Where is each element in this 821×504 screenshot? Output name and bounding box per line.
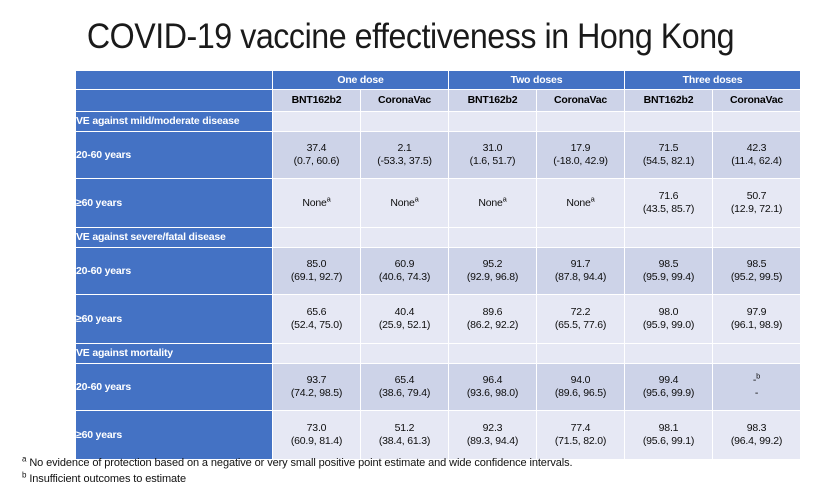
confidence-interval: (93.6, 98.0) [449,387,536,400]
confidence-interval: (74.2, 98.5) [273,387,360,400]
data-cell: 72.2(65.5, 77.6) [537,295,624,343]
data-cell: 60.9(40.6, 74.3) [361,248,448,294]
confidence-interval: (71.5, 82.0) [537,435,624,448]
data-cell: 65.4(38.6, 79.4) [361,364,448,410]
data-cell: 50.7(12.9, 72.1) [713,179,800,227]
dose-group-two-doses: Two doses [449,71,624,89]
data-cell: 2.1(-53.3, 37.5) [361,132,448,178]
section-spacer-cell [273,112,360,131]
confidence-interval: (52.4, 75.0) [273,319,360,332]
point-estimate: 71.6 [625,190,712,203]
point-estimate: 65.6 [273,306,360,319]
data-cell: 17.9(-18.0, 42.9) [537,132,624,178]
table-head: One dose Two doses Three doses BNT162b2 … [76,71,800,111]
dose-group-three-doses: Three doses [625,71,800,89]
table-row: 20-60 years37.4(0.7, 60.6)2.1(-53.3, 37.… [76,132,800,178]
section-spacer-cell [537,112,624,131]
data-cell: Nonea [273,179,360,227]
section-spacer-cell [625,112,712,131]
confidence-interval: (95.6, 99.1) [625,435,712,448]
confidence-interval: (95.6, 99.9) [625,387,712,400]
footnote-text: Insufficient outcomes to estimate [26,473,186,485]
section-spacer-cell [537,228,624,247]
confidence-interval: (1.6, 51.7) [449,155,536,168]
point-estimate: 98.0 [625,306,712,319]
data-cell: 98.3(96.4, 99.2) [713,411,800,459]
confidence-interval: (87.8, 94.4) [537,271,624,284]
footnote-marker: a [591,194,595,203]
section-spacer-cell [537,344,624,363]
vaccine-header-row: BNT162b2 CoronaVac BNT162b2 CoronaVac BN… [76,90,800,111]
footnote-line: b Insufficient outcomes to estimate [22,471,722,487]
confidence-interval: (89.6, 96.5) [537,387,624,400]
point-estimate: 51.2 [361,422,448,435]
vaccine-header-4: CoronaVac [537,90,624,111]
section-spacer-cell [361,228,448,247]
section-spacer-cell [713,112,800,131]
confidence-interval: (89.3, 94.4) [449,435,536,448]
confidence-interval: - [713,387,800,400]
table-corner-cell [76,71,272,89]
point-estimate: 71.5 [625,142,712,155]
point-estimate: 91.7 [537,258,624,271]
point-estimate: 97.9 [713,306,800,319]
confidence-interval: (-18.0, 42.9) [537,155,624,168]
section-spacer-cell [625,344,712,363]
data-cell: 94.0(89.6, 96.5) [537,364,624,410]
dose-group-one-dose: One dose [273,71,448,89]
data-cell: 93.7(74.2, 98.5) [273,364,360,410]
vaccine-header-5: BNT162b2 [625,90,712,111]
point-estimate: 99.4 [625,374,712,387]
row-label: ≥60 years [76,295,272,343]
data-cell: Nonea [361,179,448,227]
point-estimate: 42.3 [713,142,800,155]
data-cell: 51.2(38.4, 61.3) [361,411,448,459]
point-estimate: 98.5 [713,258,800,271]
data-cell: 71.5(54.5, 82.1) [625,132,712,178]
table-row: 20-60 years93.7(74.2, 98.5)65.4(38.6, 79… [76,364,800,410]
data-cell: 98.5(95.9, 99.4) [625,248,712,294]
data-cell: 98.1(95.6, 99.1) [625,411,712,459]
table-row: ≥60 years65.6(52.4, 75.0)40.4(25.9, 52.1… [76,295,800,343]
table-row: ≥60 years73.0(60.9, 81.4)51.2(38.4, 61.3… [76,411,800,459]
confidence-interval: (-53.3, 37.5) [361,155,448,168]
point-estimate: 95.2 [449,258,536,271]
footnote-marker: b [756,372,760,381]
data-cell: 31.0(1.6, 51.7) [449,132,536,178]
row-label: 20-60 years [76,248,272,294]
footnotes: a No evidence of protection based on a n… [22,455,722,487]
vaccine-header-3: BNT162b2 [449,90,536,111]
point-estimate: 77.4 [537,422,624,435]
point-estimate: 2.1 [361,142,448,155]
confidence-interval: (38.6, 79.4) [361,387,448,400]
footnote-marker: a [415,194,419,203]
section-spacer-cell [273,228,360,247]
confidence-interval: (92.9, 96.8) [449,271,536,284]
point-estimate: 92.3 [449,422,536,435]
vaccine-header-6: CoronaVac [713,90,800,111]
confidence-interval: (86.2, 92.2) [449,319,536,332]
point-estimate: 31.0 [449,142,536,155]
data-cell: 98.0(95.9, 99.0) [625,295,712,343]
section-spacer-cell [713,228,800,247]
confidence-interval: (60.9, 81.4) [273,435,360,448]
confidence-interval: (0.7, 60.6) [273,155,360,168]
vaccine-header-1: BNT162b2 [273,90,360,111]
section-spacer-cell [361,112,448,131]
row-label: ≥60 years [76,179,272,227]
point-estimate: 50.7 [713,190,800,203]
footnote-marker: a [327,194,331,203]
ve-table-container: One dose Two doses Three doses BNT162b2 … [75,70,795,460]
footnote-line: a No evidence of protection based on a n… [22,455,722,471]
row-label: ≥60 years [76,411,272,459]
table-body: VE against mild/moderate disease20-60 ye… [76,112,800,459]
data-cell: 96.4(93.6, 98.0) [449,364,536,410]
point-estimate: 98.3 [713,422,800,435]
data-cell: 73.0(60.9, 81.4) [273,411,360,459]
point-estimate: 96.4 [449,374,536,387]
confidence-interval: (95.2, 99.5) [713,271,800,284]
confidence-interval: (95.9, 99.0) [625,319,712,332]
slide-canvas: COVID-19 vaccine effectiveness in Hong K… [0,0,821,504]
point-estimate: 60.9 [361,258,448,271]
point-estimate: 40.4 [361,306,448,319]
data-cell: -b- [713,364,800,410]
confidence-interval: (65.5, 77.6) [537,319,624,332]
data-cell: 95.2(92.9, 96.8) [449,248,536,294]
table-row: ≥60 yearsNoneaNoneaNoneaNonea71.6(43.5, … [76,179,800,227]
section-spacer-cell [449,112,536,131]
row-label: 20-60 years [76,132,272,178]
data-cell: Nonea [449,179,536,227]
section-spacer-cell [625,228,712,247]
point-estimate: 65.4 [361,374,448,387]
footnote-text: No evidence of protection based on a neg… [26,457,572,469]
section-title: VE against mild/moderate disease [76,112,272,131]
data-cell: 42.3(11.4, 62.4) [713,132,800,178]
confidence-interval: (43.5, 85.7) [625,203,712,216]
point-estimate: Nonea [449,197,536,210]
section-spacer-cell [361,344,448,363]
data-cell: 85.0(69.1, 92.7) [273,248,360,294]
point-estimate: Nonea [537,197,624,210]
data-cell: 92.3(89.3, 94.4) [449,411,536,459]
point-estimate: Nonea [273,197,360,210]
point-estimate: 37.4 [273,142,360,155]
confidence-interval: (38.4, 61.3) [361,435,448,448]
point-estimate: 94.0 [537,374,624,387]
data-cell: 40.4(25.9, 52.1) [361,295,448,343]
section-spacer-cell [713,344,800,363]
point-estimate: 89.6 [449,306,536,319]
confidence-interval: (12.9, 72.1) [713,203,800,216]
table-row: 20-60 years85.0(69.1, 92.7)60.9(40.6, 74… [76,248,800,294]
data-cell: 89.6(86.2, 92.2) [449,295,536,343]
confidence-interval: (11.4, 62.4) [713,155,800,168]
data-cell: 37.4(0.7, 60.6) [273,132,360,178]
section-header-row: VE against mortality [76,344,800,363]
section-header-row: VE against mild/moderate disease [76,112,800,131]
row-label: 20-60 years [76,364,272,410]
confidence-interval: (25.9, 52.1) [361,319,448,332]
footnote-marker: a [503,194,507,203]
section-spacer-cell [273,344,360,363]
point-estimate: 98.1 [625,422,712,435]
data-cell: 99.4(95.6, 99.9) [625,364,712,410]
section-spacer-cell [449,228,536,247]
data-cell: Nonea [537,179,624,227]
confidence-interval: (69.1, 92.7) [273,271,360,284]
point-estimate: -b [713,374,800,387]
confidence-interval: (95.9, 99.4) [625,271,712,284]
section-title: VE against mortality [76,344,272,363]
data-cell: 77.4(71.5, 82.0) [537,411,624,459]
section-title: VE against severe/fatal disease [76,228,272,247]
data-cell: 71.6(43.5, 85.7) [625,179,712,227]
point-estimate: 17.9 [537,142,624,155]
section-spacer-cell [449,344,536,363]
point-estimate: 93.7 [273,374,360,387]
confidence-interval: (40.6, 74.3) [361,271,448,284]
vaccine-effectiveness-table: One dose Two doses Three doses BNT162b2 … [75,70,801,460]
point-estimate: 98.5 [625,258,712,271]
confidence-interval: (96.4, 99.2) [713,435,800,448]
point-estimate: Nonea [361,197,448,210]
point-estimate: 72.2 [537,306,624,319]
data-cell: 97.9(96.1, 98.9) [713,295,800,343]
confidence-interval: (54.5, 82.1) [625,155,712,168]
vaccine-header-2: CoronaVac [361,90,448,111]
point-estimate: 73.0 [273,422,360,435]
data-cell: 98.5(95.2, 99.5) [713,248,800,294]
confidence-interval: (96.1, 98.9) [713,319,800,332]
vaccine-header-corner [76,90,272,111]
data-cell: 65.6(52.4, 75.0) [273,295,360,343]
section-header-row: VE against severe/fatal disease [76,228,800,247]
point-estimate: 85.0 [273,258,360,271]
page-title: COVID-19 vaccine effectiveness in Hong K… [33,14,788,60]
dose-group-header-row: One dose Two doses Three doses [76,71,800,89]
data-cell: 91.7(87.8, 94.4) [537,248,624,294]
